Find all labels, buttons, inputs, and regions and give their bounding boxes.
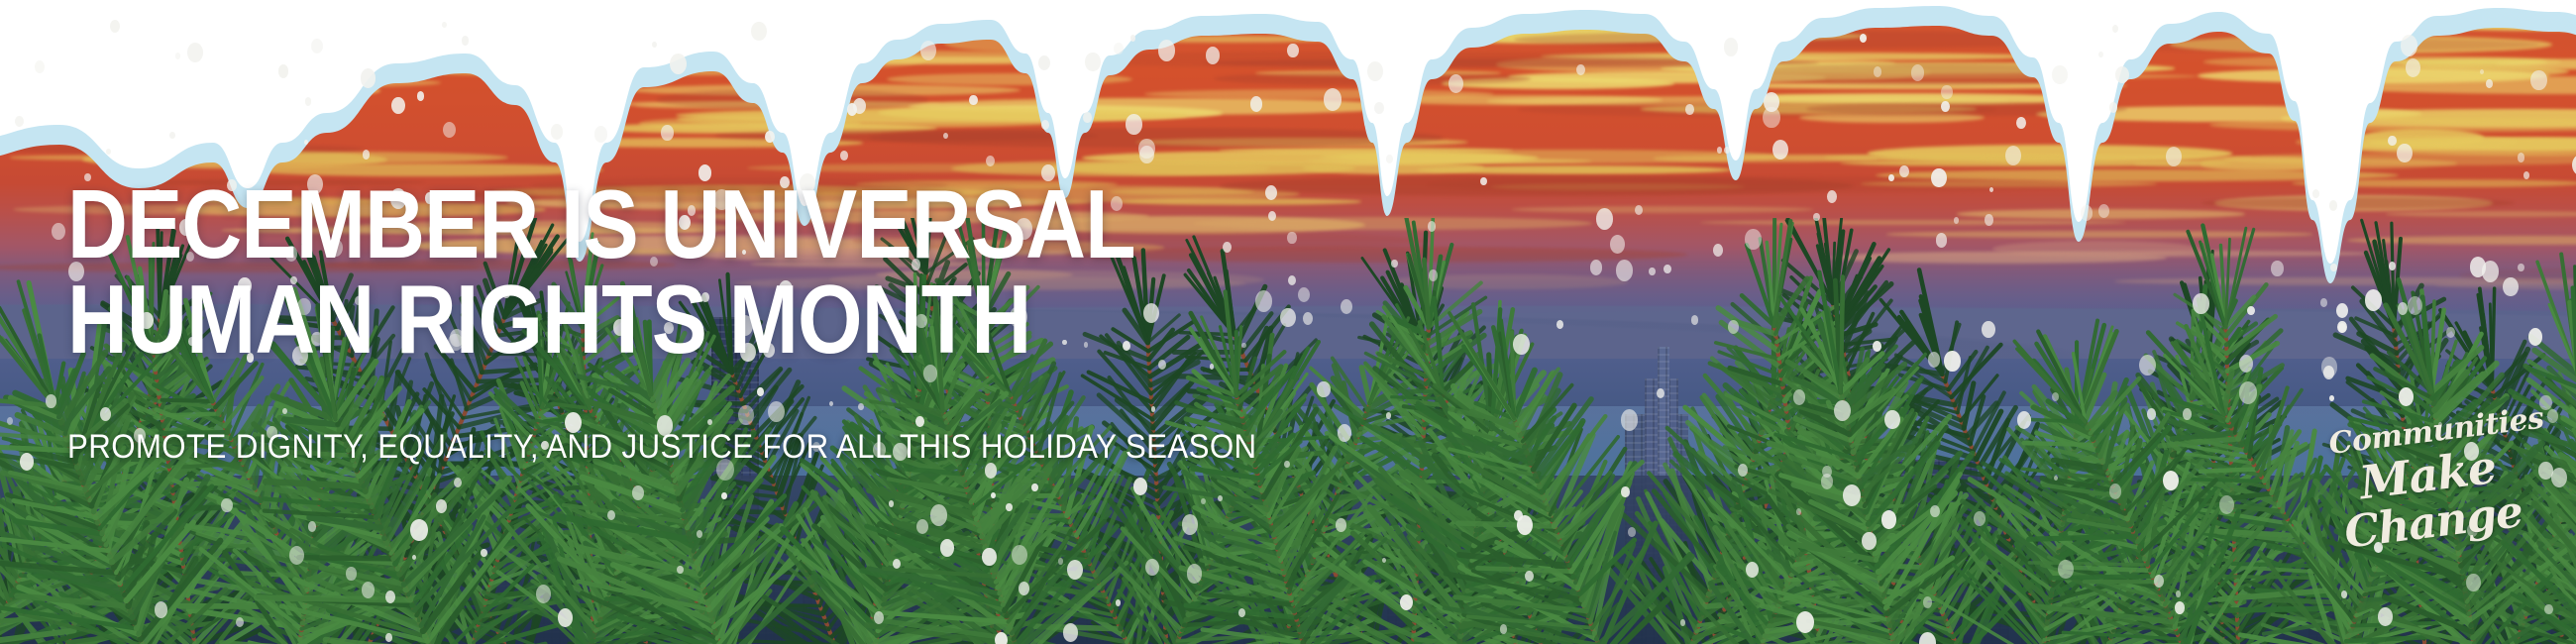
cloud-streak [615, 20, 1088, 37]
city-base-shadow [0, 476, 2576, 644]
cloud-streak-dark [2201, 197, 2515, 209]
cloud-streak [944, 35, 1079, 52]
cloud-streak-dark [1806, 102, 2126, 117]
cloud-streak [1019, 14, 1418, 27]
holiday-awareness-banner: DECEMBER IS UNIVERSAL HUMAN RIGHTS MONTH… [0, 0, 2576, 644]
cloud-streak [1886, 231, 2312, 237]
cloud-streak [1957, 209, 2246, 219]
cloud-streak [887, 73, 1131, 85]
cloud-streak [1219, 148, 1513, 154]
cloud-streak [1700, 220, 2126, 225]
cloud-streak [2296, 134, 2518, 151]
cloud-streak-dark [0, 144, 364, 155]
cloud-streak [676, 108, 1187, 123]
cloud-streak [0, 81, 380, 100]
cloud-streak [292, 13, 460, 29]
cloud-streak [2386, 211, 2576, 217]
cloud-streak [2198, 68, 2549, 83]
cloud-streak-dark [1214, 72, 1531, 85]
cloud-streak [1511, 206, 1814, 213]
cloud-streak [1112, 36, 1346, 43]
